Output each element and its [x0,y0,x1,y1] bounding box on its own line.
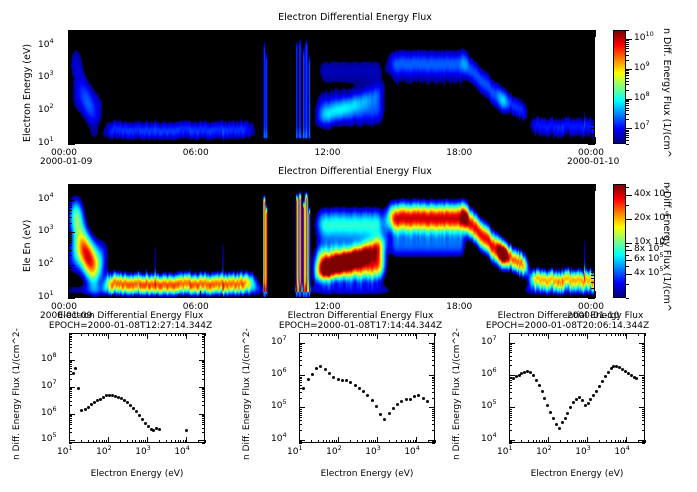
axis-tick [69,401,72,402]
axis-tick [299,380,302,381]
axis-tick [419,140,420,144]
axis-tick [198,440,199,443]
panel-3-subtitle: EPOCH=2000-01-08T12:27:14.344Z [18,321,243,331]
data-point [362,390,365,393]
data-point [552,417,555,420]
axis-tick [68,240,72,241]
axis-tick [68,116,72,117]
axis-tick [68,51,72,52]
data-point [561,421,564,424]
axis-tick [507,294,508,298]
axis-tick [428,440,429,443]
axis-tick [68,86,72,87]
axis-tick [626,274,629,275]
axis-tick [396,440,397,443]
axis-tick [68,288,72,289]
axis-tick [529,140,530,144]
axis-tick [69,389,72,390]
axis-tick [509,392,512,393]
axis-tick [299,356,302,357]
axis-tick [377,333,378,339]
axis-tick [299,411,302,412]
axis-tick [299,382,302,383]
axis-tick [375,440,376,443]
axis-tick [415,440,416,443]
axis-tick [539,440,540,443]
axis-tick [397,294,398,298]
axis-tick [68,272,72,273]
axis-tick [69,361,72,362]
axis-tick [509,382,512,383]
axis-tick [88,333,89,336]
axis-tick [108,333,109,339]
axis-tick [353,30,354,34]
axis-tick [68,121,72,122]
axis-tick [591,288,595,289]
axis-tick-label: 103 [38,226,54,236]
panel-3-plot-area[interactable] [69,333,205,443]
axis-tick [68,80,72,81]
axis-tick [68,236,72,237]
axis-tick [626,81,629,82]
axis-tick [120,440,121,443]
axis-tick [551,30,552,34]
data-point [595,390,598,393]
axis-tick [416,333,417,339]
axis-tick [200,184,201,191]
axis-tick [68,113,72,114]
axis-tick [202,405,205,406]
panel-5-subtitle: EPOCH=2000-01-08T20:06:14.344Z [455,321,680,331]
axis-tick [591,121,595,122]
axis-tick [202,371,205,372]
axis-tick [642,350,645,351]
axis-tick [432,380,435,381]
axis-tick [90,30,91,34]
axis-tick [69,347,72,348]
axis-tick [432,398,435,399]
axis-tick [69,393,72,394]
axis-tick [626,437,627,443]
data-point [383,418,386,421]
axis-tick [432,420,435,421]
axis-tick [156,140,157,144]
axis-tick [318,333,319,336]
axis-tick [548,333,549,339]
axis-tick [591,278,595,279]
panel-2-plot-area[interactable] [68,184,595,298]
axis-tick [69,364,72,365]
axis-tick [323,333,324,336]
axis-tick [595,137,596,144]
axis-tick [432,352,435,353]
axis-tick [432,350,435,351]
data-point [319,365,322,368]
axis-tick [310,30,311,34]
axis-tick [310,184,311,188]
axis-tick [202,395,205,396]
axis-tick [591,84,595,85]
axis-tick [626,243,629,244]
axis-tick [432,409,435,410]
axis-tick [551,184,552,188]
axis-tick [244,184,245,188]
axis-tick [365,333,366,336]
axis-tick-label: 102 [38,105,54,115]
axis-tick [591,96,595,97]
data-point [409,398,412,401]
axis-tick [642,348,645,349]
data-point [87,406,90,409]
data-point [371,399,374,402]
axis-tick [645,333,646,336]
axis-tick [299,378,302,379]
axis-tick [338,437,339,443]
data-point [535,379,538,382]
axis-tick [69,362,72,363]
axis-tick [68,47,72,48]
axis-tick [432,356,435,357]
axis-tick [69,428,72,429]
axis-tick [178,294,179,298]
axis-tick [69,366,72,367]
axis-tick [310,294,311,298]
axis-tick [159,440,160,443]
axis-tick [432,377,435,378]
axis-tick [642,352,645,353]
axis-tick [106,440,107,443]
axis-tick [606,333,607,336]
axis-tick [299,388,302,389]
axis-tick [68,223,72,224]
axis-tick [102,333,103,336]
panel-1-colorbar-label: n Diff. Energy Flux (1/(cm^ [661,28,672,158]
axis-tick-label: 105 [41,434,57,444]
axis-tick [591,124,595,125]
data-point [345,379,348,382]
axis-tick [591,114,595,115]
axis-tick [623,440,624,443]
axis-tick [626,114,629,115]
axis-tick [432,443,435,444]
axis-tick [202,418,205,419]
axis-tick [183,440,184,443]
axis-tick [96,333,97,336]
axis-tick [529,30,530,34]
axis-tick [68,82,72,83]
axis-tick [463,184,464,191]
axis-tick [638,440,639,443]
axis-tick [591,255,595,256]
axis-tick [299,415,302,416]
axis-tick-label: 105 [271,401,287,411]
axis-tick [507,184,508,188]
axis-tick [626,105,629,106]
axis-tick [202,424,205,425]
axis-tick [595,291,596,298]
axis-tick [375,184,376,188]
axis-tick [377,437,378,443]
axis-tick [591,201,595,202]
axis-tick [134,294,135,298]
axis-tick [591,282,595,283]
axis-tick-label: 106 [271,369,287,379]
axis-tick [642,377,645,378]
axis-tick [202,347,205,348]
axis-tick [202,416,205,417]
axis-tick [68,242,72,243]
axis-tick [585,333,586,336]
axis-tick [432,382,435,383]
axis-tick [591,223,595,224]
axis-tick [591,134,595,135]
axis-tick [134,140,135,144]
axis-tick [375,294,376,298]
axis-tick [93,440,94,443]
axis-tick [143,333,144,336]
data-point [396,403,399,406]
axis-tick [432,388,435,389]
axis-tick [615,333,616,336]
axis-tick [202,397,205,398]
axis-tick [432,417,435,418]
axis-tick [591,210,595,211]
data-point [546,404,549,407]
axis-tick [626,130,629,131]
axis-tick [373,333,374,336]
axis-tick [69,405,72,406]
axis-tick [69,333,70,339]
axis-tick [202,415,205,416]
axis-tick [178,440,179,443]
axis-tick [166,440,167,443]
axis-tick [575,440,576,443]
axis-tick [68,69,72,70]
axis-tick [509,360,512,361]
axis-tick [202,393,205,394]
axis-tick [591,47,595,48]
axis-tick-label: 2000-01-09 [40,157,92,167]
axis-tick [147,437,148,443]
axis-tick [560,440,561,443]
panel-4-subtitle: EPOCH=2000-01-08T17:14:44.344Z [248,321,473,331]
axis-tick [202,379,205,380]
axis-tick [68,114,72,115]
axis-tick [350,333,351,336]
panel-1-colorbar [613,30,626,144]
axis-tick-label: 06:00 [183,148,209,158]
axis-tick [222,184,223,188]
axis-tick-label: 6x 105 [634,254,664,264]
axis-tick [202,339,205,340]
axis-tick [156,30,157,34]
axis-tick [69,416,72,417]
axis-tick [509,398,512,399]
axis-tick [591,267,595,268]
axis-tick [642,413,645,414]
axis-tick-label: 4x 105 [634,268,664,278]
axis-tick [299,424,302,425]
axis-tick [626,144,629,145]
axis-tick [299,409,302,410]
data-point [635,377,638,380]
axis-tick [509,377,512,378]
axis-tick [560,333,561,336]
panel-5-plot-area[interactable] [509,333,645,443]
axis-tick [591,270,595,271]
axis-tick [171,440,172,443]
axis-tick [299,348,302,349]
axis-tick [432,360,435,361]
axis-tick [591,53,595,54]
data-point [144,422,147,425]
data-point [311,373,314,376]
panel-3-x-axis-label: Electron Energy (eV) [69,469,205,479]
axis-tick [69,395,72,396]
panel-4-plot-area[interactable] [299,333,435,443]
axis-tick [202,428,205,429]
panel-4-title: Electron Differential Energy Flux [258,311,463,321]
axis-tick [362,333,363,336]
axis-tick [410,333,411,336]
axis-tick [68,184,69,191]
axis-tick [626,219,629,220]
data-point [598,385,601,388]
data-point [354,384,357,387]
axis-tick [88,440,89,443]
axis-tick [329,333,330,336]
axis-tick-label: 101 [497,447,513,457]
axis-tick [432,365,435,366]
axis-tick [435,333,436,336]
axis-tick [336,333,337,336]
data-point [572,401,575,404]
axis-tick [432,415,435,416]
axis-tick [299,333,300,339]
axis-tick [432,413,435,414]
axis-tick [69,420,72,421]
axis-tick [551,294,552,298]
axis-tick [332,137,333,144]
axis-tick [68,205,72,206]
axis-tick [332,291,333,298]
axis-tick [528,333,529,336]
axis-tick [583,440,584,443]
data-point [328,372,331,375]
axis-tick [591,59,595,60]
axis-tick [595,184,596,191]
axis-tick [69,437,70,443]
axis-tick [642,356,645,357]
axis-tick [626,46,629,47]
axis-tick [299,413,302,414]
axis-tick [311,440,312,443]
axis-tick [202,388,205,389]
panel-1-title: Electron Differential Energy Flux [160,12,550,23]
axis-tick [509,350,512,351]
axis-tick [397,184,398,188]
axis-tick [68,63,72,64]
axis-tick [69,418,72,419]
axis-tick [68,298,75,299]
data-point [422,397,425,400]
axis-tick [463,137,464,144]
axis-tick [626,250,629,251]
axis-tick [591,91,595,92]
axis-tick [441,294,442,298]
axis-tick [68,203,72,204]
data-point [589,398,592,401]
axis-tick [397,140,398,144]
axis-tick [299,398,302,399]
axis-tick [642,344,645,345]
axis-tick [509,333,510,339]
axis-tick-label: 107 [481,337,497,347]
axis-tick [200,291,201,298]
axis-tick [591,51,595,52]
axis-tick [68,210,72,211]
data-point [558,427,561,430]
axis-tick [642,365,645,366]
axis-tick [401,440,402,443]
data-point [549,411,552,414]
axis-tick [202,374,205,375]
axis-tick [626,72,629,73]
axis-tick [463,291,464,298]
axis-tick [127,333,128,336]
axis-tick [68,96,72,97]
axis-tick [529,184,530,188]
axis-tick [69,397,72,398]
axis-tick [299,377,302,378]
axis-tick [587,333,588,339]
axis-tick-label: 103 [38,72,54,82]
panel-5-x-axis-label: Electron Energy (eV) [509,469,645,479]
axis-tick [626,246,629,247]
axis-tick [318,440,319,443]
axis-tick [222,140,223,144]
axis-tick [618,333,619,336]
axis-tick [299,346,302,347]
axis-tick [642,430,645,431]
axis-tick [626,30,629,31]
axis-tick [536,333,537,336]
axis-tick [353,184,354,188]
data-point [400,400,403,403]
data-point [569,406,572,409]
axis-tick [509,378,512,379]
axis-tick [202,401,205,402]
axis-tick [178,184,179,188]
axis-tick-label: 107 [634,122,650,132]
axis-tick [591,116,595,117]
axis-tick [642,382,645,383]
panel-1-plot-area[interactable] [68,30,595,144]
axis-tick [626,205,629,206]
axis-tick [620,440,621,443]
axis-tick [147,333,148,339]
axis-tick [626,55,629,56]
axis-tick [69,371,72,372]
axis-tick [626,195,629,196]
axis-tick-label: 106 [481,369,497,379]
axis-tick [178,333,179,336]
axis-tick [288,140,289,144]
axis-tick [68,291,69,298]
axis-tick [104,440,105,443]
axis-tick [299,392,302,393]
axis-tick [441,184,442,188]
